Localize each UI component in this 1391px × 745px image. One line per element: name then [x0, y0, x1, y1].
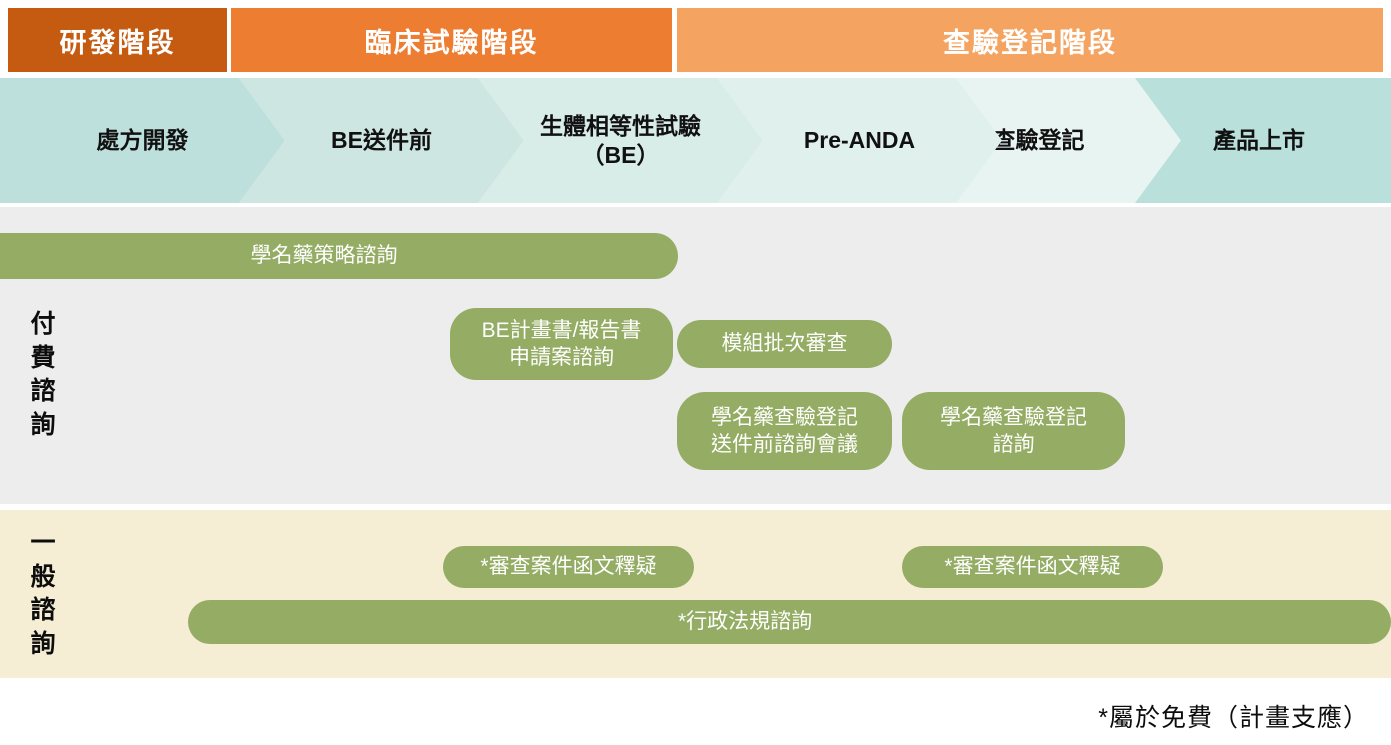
stage-chevron-1[interactable]: 處方開發: [0, 78, 285, 203]
stage-label: 查驗登記: [993, 126, 1085, 155]
pill-label: *審查案件函文釋疑: [480, 553, 656, 580]
roadmap-canvas: 研發階段 臨床試驗階段 查驗登記階段 產品上市查驗登記Pre-ANDA生體相等性…: [0, 0, 1391, 745]
phase-band-registration: 查驗登記階段: [677, 8, 1383, 72]
paid-pill-1[interactable]: 學名藥策略諮詢: [0, 233, 678, 279]
general-consultation-band: [0, 510, 1391, 678]
pill-label: 學名藥查驗登記 諮詢: [940, 404, 1087, 459]
stage-label: 生體相等性試驗 （BE）: [540, 112, 701, 170]
stage-chevron-row: 產品上市查驗登記Pre-ANDA生體相等性試驗 （BE）BE送件前處方開發: [0, 78, 1391, 203]
pill-label: 學名藥查驗登記 送件前諮詢會議: [711, 404, 858, 459]
pill-label: 學名藥策略諮詢: [251, 242, 398, 269]
paid-pill-3[interactable]: 模組批次審查: [677, 320, 892, 368]
pill-label: 模組批次審查: [722, 330, 848, 357]
general-consultation-label: 一 般 諮 詢: [22, 527, 64, 661]
stage-label: 處方開發: [97, 126, 189, 155]
pill-label: BE計畫書/報告書 申請案諮詢: [482, 317, 642, 372]
general-pill-1[interactable]: *審查案件函文釋疑: [443, 546, 694, 588]
paid-pill-2[interactable]: BE計畫書/報告書 申請案諮詢: [450, 308, 673, 380]
general-pill-3[interactable]: *行政法規諮詢: [188, 600, 1391, 644]
footnote-free-note: *屬於免費（計畫支應）: [1098, 698, 1369, 734]
paid-pill-4[interactable]: 學名藥查驗登記 送件前諮詢會議: [677, 392, 892, 470]
general-pill-2[interactable]: *審查案件函文釋疑: [902, 546, 1163, 588]
stage-label: 產品上市: [1213, 126, 1305, 155]
stage-label: Pre-ANDA: [804, 126, 915, 155]
phase-label: 查驗登記階段: [943, 21, 1117, 60]
paid-consultation-label: 付 費 諮 詢: [22, 308, 64, 442]
pill-label: *行政法規諮詢: [678, 608, 812, 635]
phase-label: 臨床試驗階段: [365, 21, 539, 60]
stage-label: BE送件前: [331, 126, 432, 155]
phase-band-clinical: 臨床試驗階段: [231, 8, 672, 72]
paid-pill-5[interactable]: 學名藥查驗登記 諮詢: [902, 392, 1125, 470]
phase-label: 研發階段: [60, 21, 176, 60]
pill-label: *審查案件函文釋疑: [944, 553, 1120, 580]
phase-band-rd: 研發階段: [8, 8, 227, 72]
